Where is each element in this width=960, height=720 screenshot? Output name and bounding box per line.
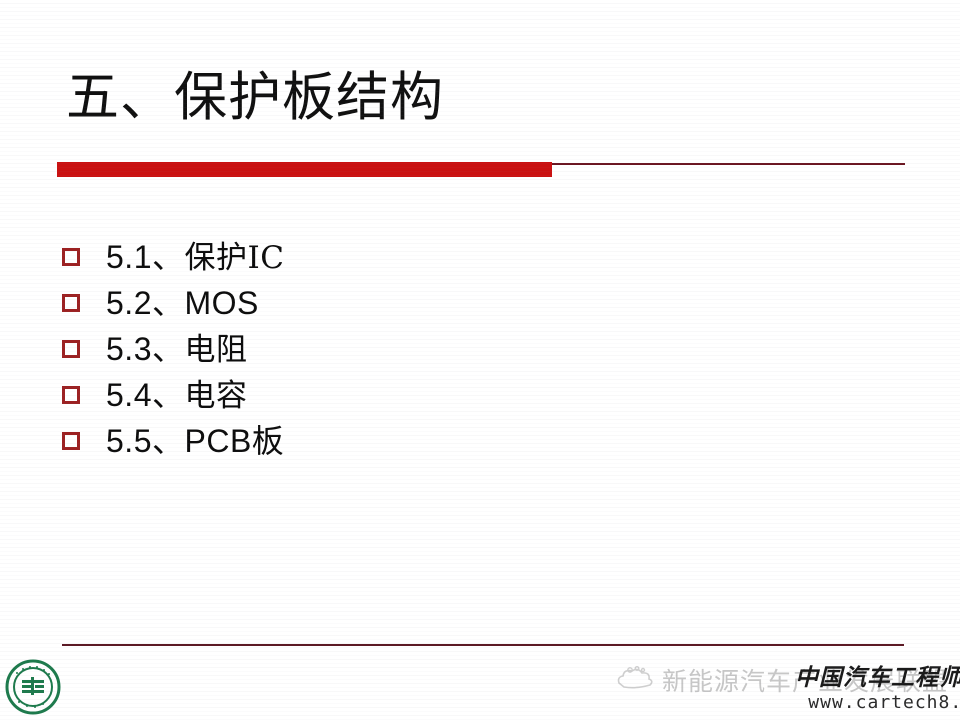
list-item-label: 5.5、PCB板 bbox=[106, 425, 284, 457]
list-item[interactable]: 5.2、MOS bbox=[62, 280, 662, 326]
watermark-cartech-url: www.cartech8.com bbox=[795, 694, 960, 712]
list-item-title: 电容 bbox=[185, 378, 248, 414]
list-item[interactable]: 5.3、电阻 bbox=[62, 326, 662, 372]
list-item-title: MOS bbox=[185, 285, 259, 321]
list-item-label: 5.1、保护IC bbox=[106, 241, 284, 274]
slide-canvas: 五、保护板结构 5.1、保护IC 5.2、MOS 5.3、电阻 5.4、电容 5… bbox=[0, 0, 960, 720]
agenda-list: 5.1、保护IC 5.2、MOS 5.3、电阻 5.4、电容 5.5、PCB板 bbox=[62, 234, 662, 464]
list-item-number: 5.3、 bbox=[106, 331, 185, 367]
hollow-square-icon bbox=[62, 294, 80, 312]
list-item-number: 5.1、 bbox=[106, 239, 185, 275]
watermark-cartech-title: 中国汽车工程师之家 bbox=[795, 666, 960, 689]
hollow-square-icon bbox=[62, 386, 80, 404]
cloud-outline-icon bbox=[616, 665, 656, 696]
list-item-number: 5.4、 bbox=[106, 377, 185, 413]
list-item-title: 保护IC bbox=[185, 240, 285, 276]
list-item[interactable]: 5.4、电容 bbox=[62, 372, 662, 418]
list-item-title: 电阻 bbox=[185, 332, 248, 368]
list-item-label: 5.3、电阻 bbox=[106, 333, 248, 366]
organization-seal-icon bbox=[5, 659, 61, 715]
watermark-cartech: 中国汽车工程师之家 www.cartech8.com bbox=[795, 666, 960, 712]
hollow-square-icon bbox=[62, 248, 80, 266]
hollow-square-icon bbox=[62, 432, 80, 450]
list-item[interactable]: 5.5、PCB板 bbox=[62, 418, 662, 464]
list-item-number: 5.5、 bbox=[106, 423, 185, 459]
hollow-square-icon bbox=[62, 340, 80, 358]
page-title: 五、保护板结构 bbox=[66, 68, 444, 129]
list-item-label: 5.4、电容 bbox=[106, 379, 248, 412]
footer-divider bbox=[62, 644, 904, 646]
list-item-number: 5.2、 bbox=[106, 285, 185, 321]
list-item-label: 5.2、MOS bbox=[106, 287, 259, 319]
title-divider-accent-bar bbox=[57, 162, 552, 177]
list-item-title: PCB板 bbox=[185, 423, 285, 459]
list-item[interactable]: 5.1、保护IC bbox=[62, 234, 662, 280]
